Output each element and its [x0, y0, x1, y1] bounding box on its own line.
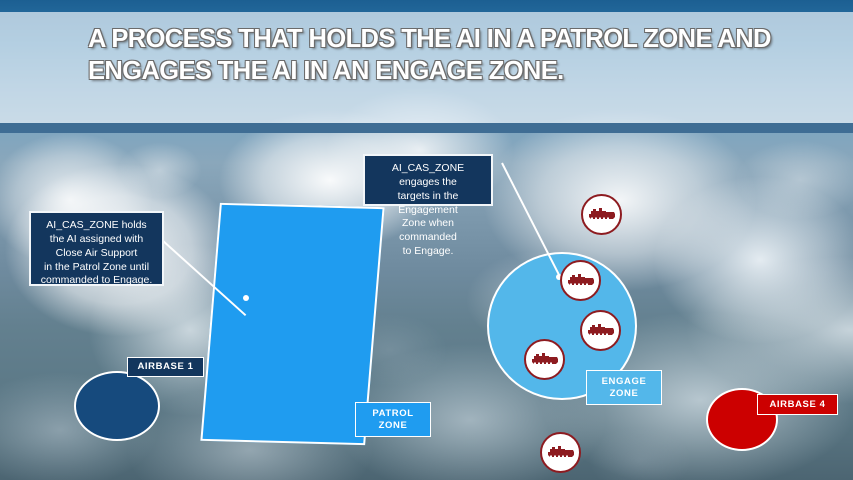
page-title: A PROCESS THAT HOLDS THE AI IN A PATROL … [88, 24, 788, 88]
engage-callout-line-3: Zone when commanded [373, 217, 483, 245]
target-marker-3[interactable] [580, 310, 621, 351]
target-marker-1[interactable] [581, 194, 622, 235]
engage-zone-label[interactable]: ENGAGE ZONE [586, 370, 662, 405]
title-banner: A PROCESS THAT HOLDS THE AI IN A PATROL … [0, 12, 853, 133]
airbase-4-label[interactable]: AIRBASE 4 [757, 394, 838, 415]
airbase-1-label[interactable]: AIRBASE 1 [127, 357, 204, 377]
patrol-zone-label-line-1: PATROL [372, 408, 413, 420]
engage-callout-line-2: targets in the Engagement [373, 190, 483, 218]
target-marker-2[interactable] [560, 260, 601, 301]
patrol-zone-label-line-2: ZONE [379, 420, 408, 432]
patrol-callout-leader-endpoint [243, 295, 249, 301]
patrol-callout-line-2: the AI assigned with [39, 233, 154, 247]
airbase-4-label-text: AIRBASE 4 [769, 399, 825, 411]
airbase-1-label-text: AIRBASE 1 [137, 361, 193, 373]
armored-vehicle-icon [546, 444, 576, 461]
armored-vehicle-icon [586, 322, 616, 339]
patrol-callout-line-4: in the Patrol Zone until [39, 261, 154, 275]
armored-vehicle-icon [587, 206, 617, 223]
armored-vehicle-icon [530, 351, 560, 368]
patrol-callout-line-5: commanded to Engage. [39, 274, 154, 288]
patrol-callout-line-1: AI_CAS_ZONE holds [39, 219, 154, 233]
engage-callout-line-1: AI_CAS_ZONE engages the [373, 162, 483, 190]
armored-vehicle-icon [566, 272, 596, 289]
title-banner-bottom-strip [0, 123, 853, 133]
airbase-1-marker[interactable] [74, 371, 160, 441]
engage-callout-line-4: to Engage. [373, 245, 483, 259]
target-marker-4[interactable] [524, 339, 565, 380]
engage-zone-label-line-1: ENGAGE [602, 376, 647, 388]
target-marker-5[interactable] [540, 432, 581, 473]
slide-canvas: A PROCESS THAT HOLDS THE AI IN A PATROL … [0, 0, 853, 480]
patrol-callout-box[interactable]: AI_CAS_ZONE holds the AI assigned with C… [29, 211, 164, 286]
patrol-callout-line-3: Close Air Support [39, 247, 154, 261]
patrol-zone-label[interactable]: PATROL ZONE [355, 402, 431, 437]
engage-zone-label-line-2: ZONE [610, 388, 639, 400]
engage-callout-box[interactable]: AI_CAS_ZONE engages the targets in the E… [363, 154, 493, 206]
